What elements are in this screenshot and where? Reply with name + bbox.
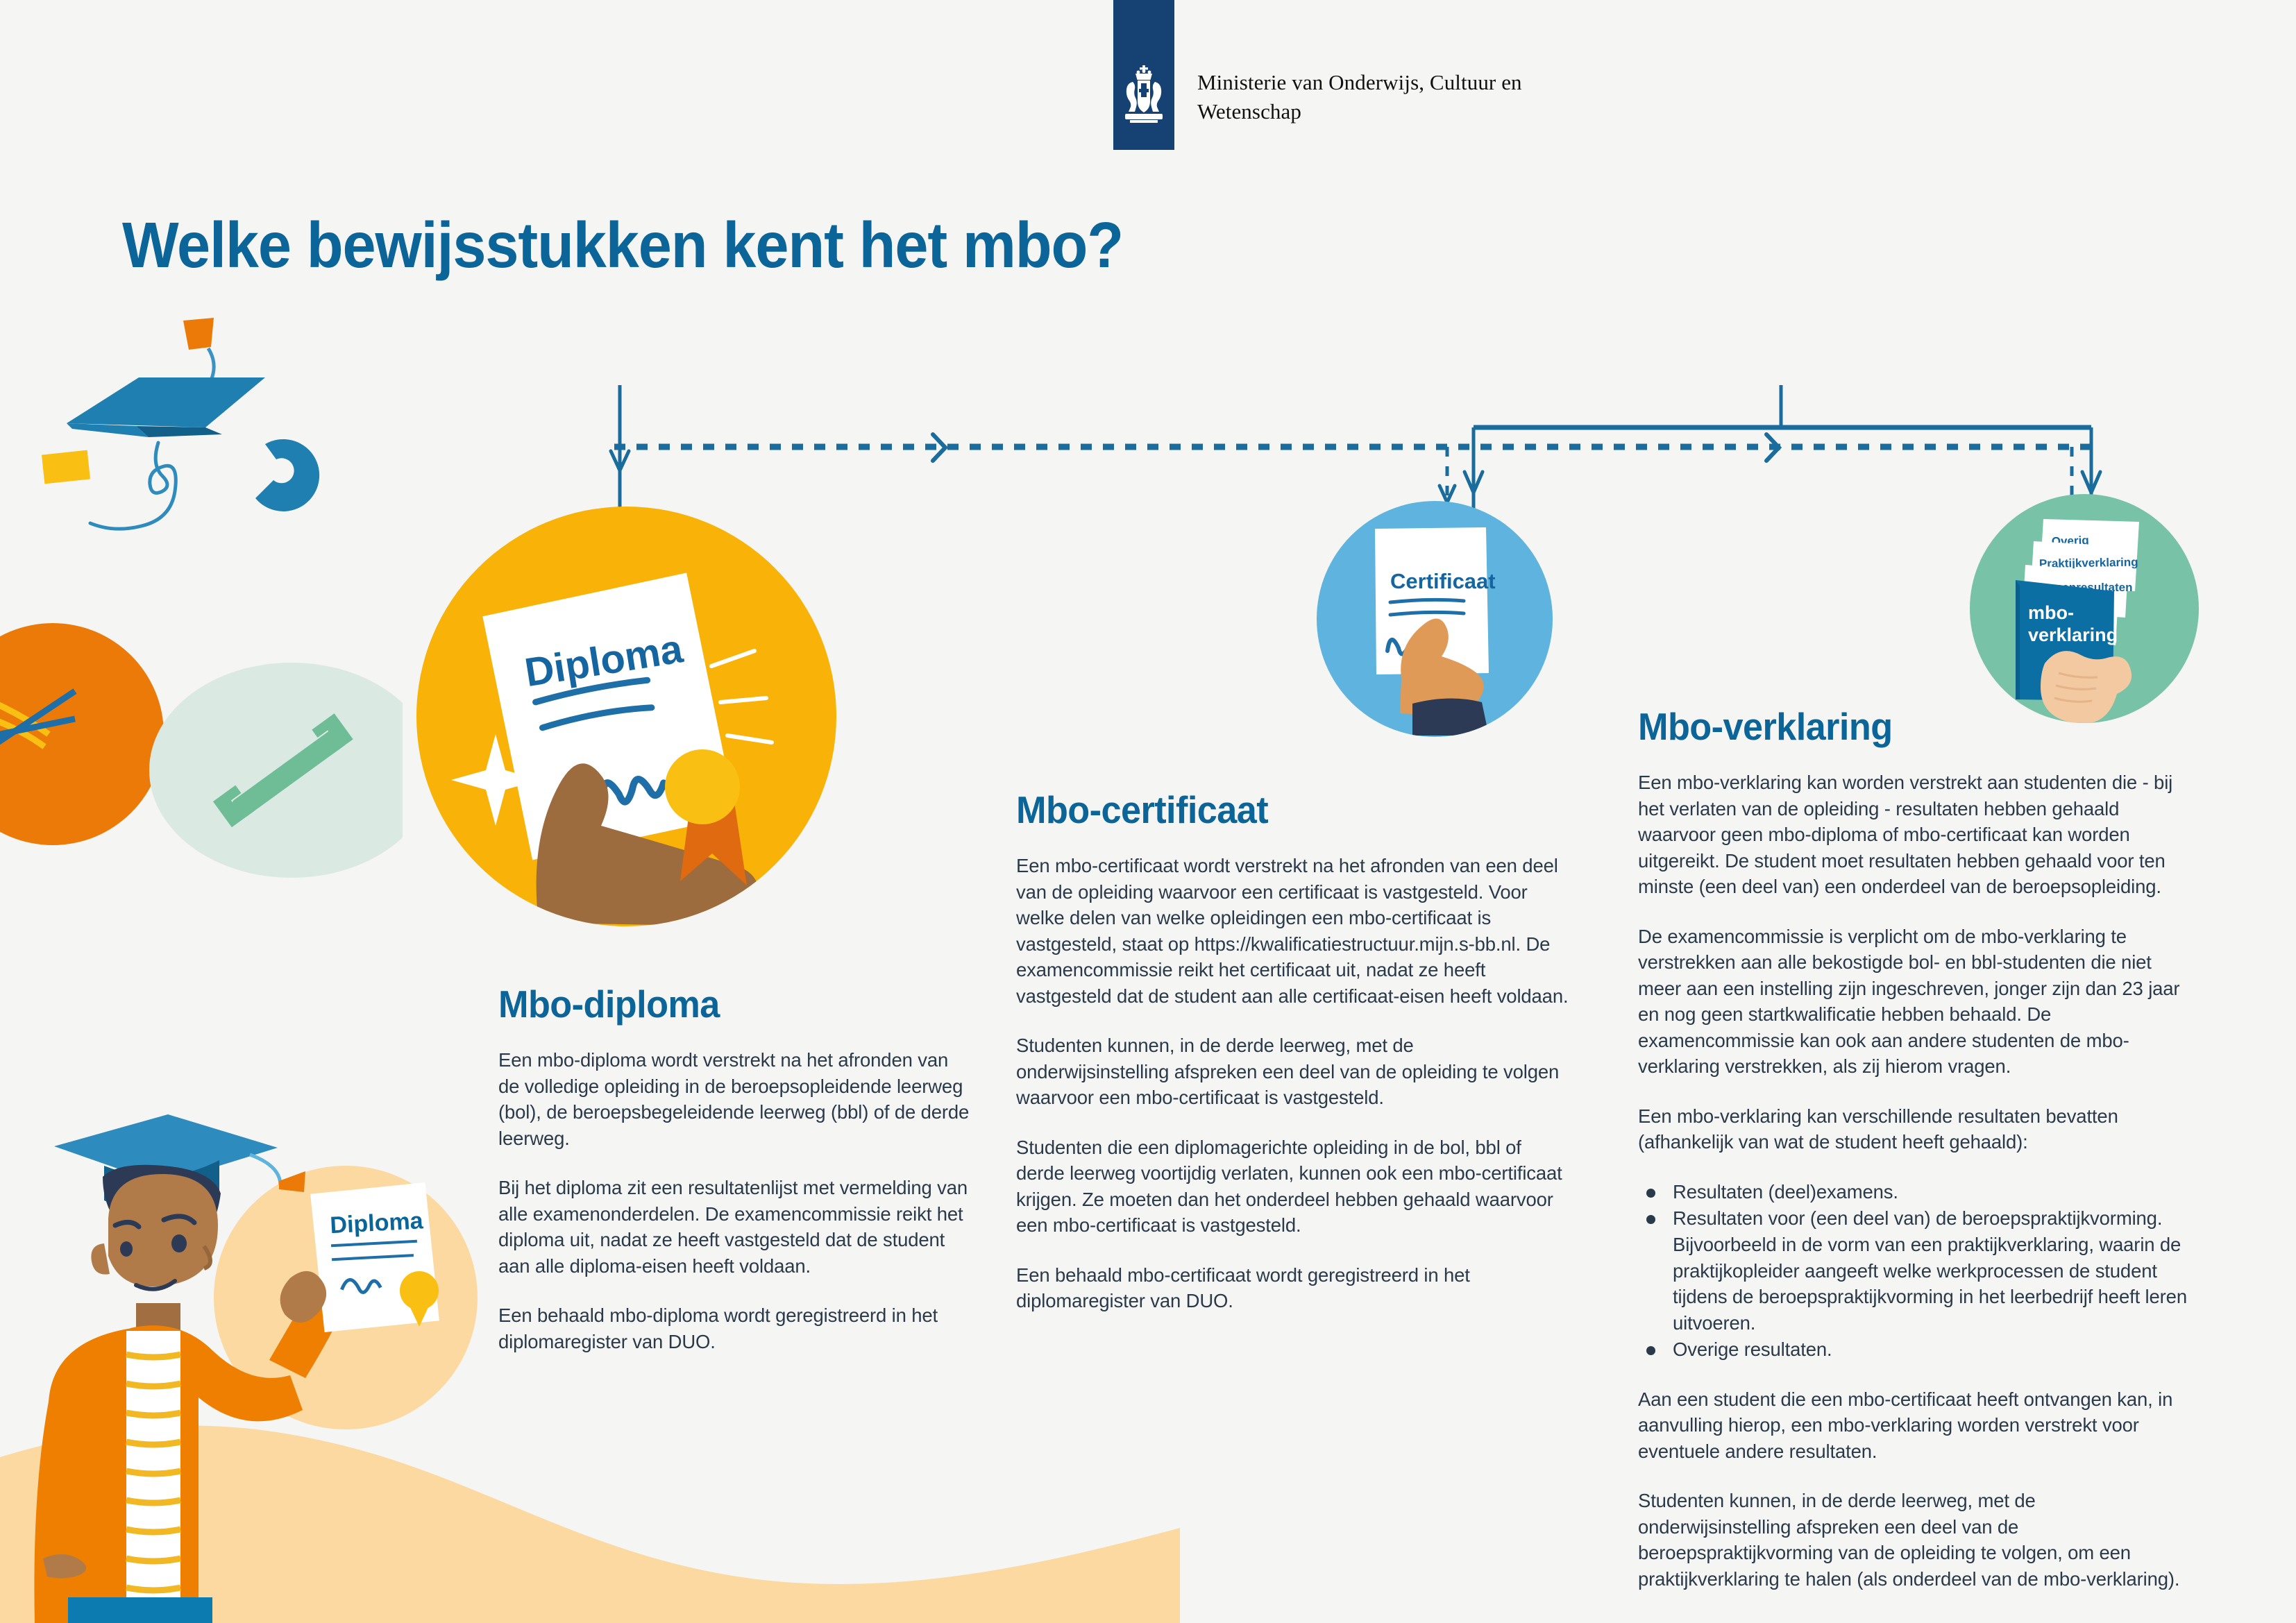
column-mbo-verklaring: Mbo-verklaring Een mbo-verklaring kan wo… — [1638, 704, 2193, 1615]
results-list: Resultaten (deel)examens. Resultaten voo… — [1638, 1179, 2193, 1363]
striped-shirt — [126, 1331, 180, 1623]
folder-label-line2: verklaring — [2028, 624, 2118, 645]
paragraph: De examencommissie is verplicht om de mb… — [1638, 924, 2193, 1080]
paragraph: Een behaald mbo-diploma wordt geregistre… — [498, 1302, 970, 1354]
heading-mbo-diploma: Mbo-diploma — [498, 982, 947, 1026]
raised-arm — [269, 1275, 351, 1378]
sand-wave-background — [0, 1353, 1180, 1623]
shine-lines — [711, 651, 772, 742]
gold-seal-icon — [665, 749, 740, 824]
list-item: Resultaten voor (een deel van) de beroep… — [1638, 1205, 2193, 1336]
paragraph: Een mbo-diploma wordt verstrekt na het a… — [498, 1047, 970, 1151]
paragraph: Studenten die een diplomagerichte opleid… — [1016, 1135, 1571, 1239]
face-features — [115, 1216, 210, 1289]
illustration-mbo-certificaat: Certificaat — [1317, 501, 1553, 737]
paragraph: Studenten kunnen, in de derde leerweg, m… — [1638, 1488, 2193, 1592]
student-diploma-label: Diploma — [330, 1207, 425, 1239]
student-character-illustration: Diploma — [0, 1082, 514, 1623]
infographic-page: Ministerie van Onderwijs, Cultuur en Wet… — [0, 0, 2296, 1623]
list-item: Overige resultaten. — [1638, 1336, 2193, 1363]
column-mbo-certificaat: Mbo-certificaat Een mbo-certificaat word… — [1016, 788, 1571, 1338]
paragraph: Studenten kunnen, in de derde leerweg, m… — [1016, 1033, 1571, 1111]
heading-mbo-verklaring: Mbo-verklaring — [1638, 704, 2166, 749]
hair-shape — [103, 1165, 221, 1234]
graduation-cap-worn-icon — [54, 1114, 305, 1212]
jeans-shape — [68, 1597, 212, 1623]
head-shape — [108, 1174, 218, 1286]
paragraph: Bij het diploma zit een resultatenlijst … — [498, 1175, 970, 1279]
certificaat-label: Certificaat — [1390, 569, 1496, 593]
paragraph: Een mbo-verklaring kan worden verstrekt … — [1638, 770, 2193, 900]
column-mbo-diploma: Mbo-diploma Een mbo-diploma wordt verstr… — [498, 982, 970, 1378]
holding-hand — [280, 1271, 327, 1323]
paragraph: Een mbo-verklaring kan verschillende res… — [1638, 1103, 2193, 1155]
heading-mbo-certificaat: Mbo-certificaat — [1016, 788, 1544, 832]
folder-label-line1: mbo- — [2028, 602, 2074, 623]
flow-connectors — [0, 0, 2296, 763]
paragraph: Aan een student die een mbo-certificaat … — [1638, 1386, 2193, 1465]
hand-on-hip — [43, 1554, 86, 1579]
illustration-mbo-verklaring: Overig Praktijkverklaring Examenresultat… — [1970, 494, 2199, 723]
paragraph: Een mbo-certificaat wordt verstrekt na h… — [1016, 853, 1571, 1009]
student-diploma-sheet: Diploma — [310, 1182, 440, 1333]
jacket-shape — [34, 1328, 132, 1623]
paragraph: Een behaald mbo-certificaat wordt geregi… — [1016, 1262, 1571, 1314]
list-item: Resultaten (deel)examens. — [1638, 1179, 2193, 1205]
illustration-mbo-diploma: Diploma — [416, 507, 836, 926]
amber-halo-circle — [214, 1166, 478, 1429]
